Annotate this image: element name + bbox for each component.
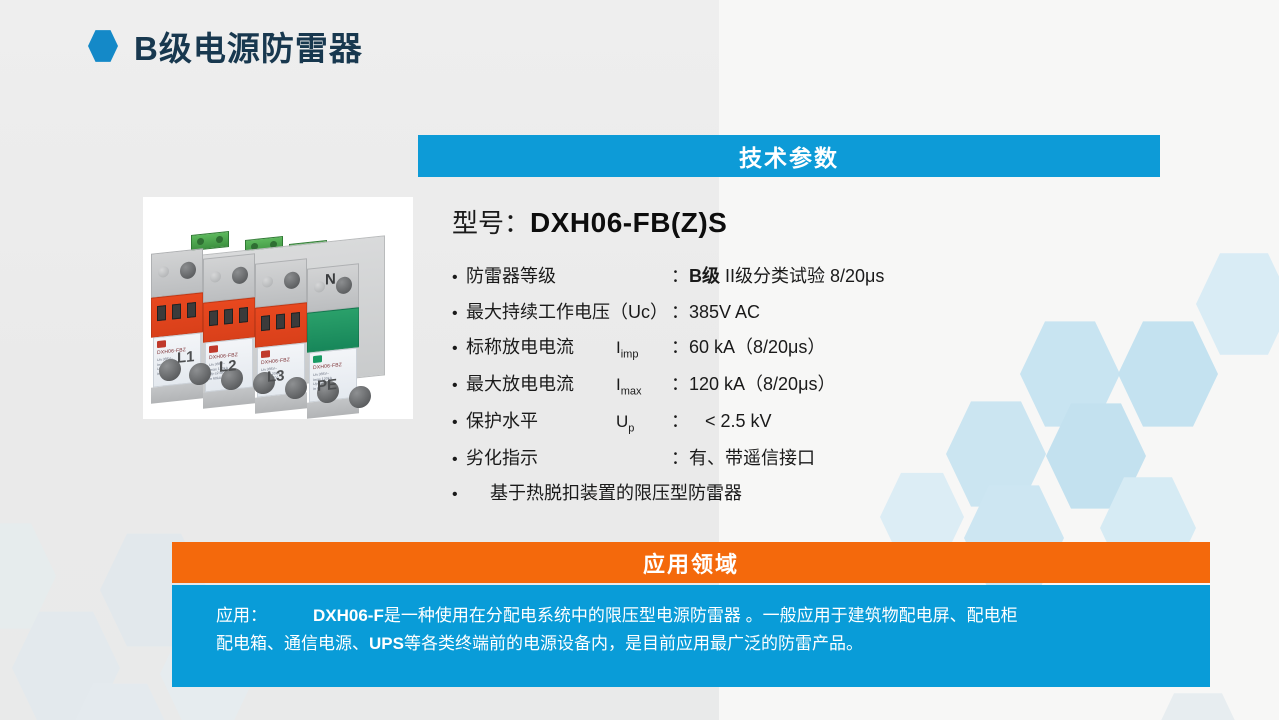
spec-name: 基于热脱扣装置的限压型防雷器 [466,479,742,505]
application-line-1-bold: DXH06-F [313,606,384,625]
hexagon-icon [88,30,118,63]
spec-symbol-sub: imp [621,348,639,360]
spd-device-illustration: DXH06-FBZ Un 385V~Imax 120kAUp ≤2.5kVIn … [149,211,407,411]
spec-name: 标称放电电流 [466,333,616,359]
status-window [187,302,196,318]
spec-colon: ： [671,407,689,433]
application-line-1: 应用：DXH06-F是一种使用在分配电系统中的限压型电源防雷器 。一般应用于建筑… [216,602,1196,630]
brand-logo-icon [261,350,270,358]
bullet-icon: • [452,270,466,286]
model-label: 型号： [452,203,530,240]
brand-logo-icon [157,340,166,348]
neutral-label-n: N [325,270,336,288]
spec-colon: ： [671,444,689,470]
spec-name: 保护水平 [466,407,616,433]
bullet-icon: • [452,487,466,503]
spec-value: 60 kA（8/20μs） [689,333,825,359]
spec-symbol-sub: max [621,385,642,397]
status-window [224,309,233,325]
tech-spec-list: • 防雷器等级 ： B级 II级分类试验 8/20μs • 最大持续工作电压（U… [452,262,1012,515]
bullet-icon: • [452,306,466,322]
status-window [291,312,300,328]
spec-value: 有、带遥信接口 [689,444,815,470]
slide-canvas: B级电源防雷器 技术参数 [0,0,1279,720]
application-line-1-rest: 是一种使用在分配电系统中的限压型电源防雷器 。一般应用于建筑物配电屏、配电柜 [384,606,1018,625]
bullet-icon: • [452,378,466,394]
bullet-icon: • [452,415,466,431]
spec-row-imax: • 最大放电电流 Imax ： 120 kA（8/20μs） [452,370,1012,397]
spec-row-up: • 保护水平 Up ： < 2.5 kV [452,407,1012,434]
bullet-icon: • [452,341,466,357]
spec-row-thermal: • 基于热脱扣装置的限压型防雷器 [452,479,1012,505]
page-title-row: B级电源防雷器 [88,22,363,70]
spec-row-in: • 标称放电电流 Iimp ： 60 kA（8/20μs） [452,333,1012,360]
spec-name: 防雷器等级 [466,262,671,288]
brand-logo-icon [209,345,218,353]
spec-symbol-base: U [616,412,628,431]
model-value: DXH06-FB(Z)S [530,207,727,239]
spec-row-indicator: • 劣化指示 ： 有、带遥信接口 [452,444,1012,470]
spec-row-uc: • 最大持续工作电压（Uc） ： 385V AC [452,298,1012,324]
spec-name: 最大放电电流 [466,370,616,396]
spec-value-bold: B级 [689,266,720,286]
spec-value: B级 II级分类试验 8/20μs [689,262,884,288]
product-photo: DXH06-FBZ Un 385V~Imax 120kAUp ≤2.5kVIn … [143,197,413,419]
status-window [239,307,248,323]
spec-symbol-sub: p [628,422,634,434]
tech-params-header-label: 技术参数 [739,139,839,173]
status-window [276,314,285,330]
application-header: 应用领域 [172,542,1210,583]
spec-symbol: Iimp [616,338,671,360]
phase-label-l2: L2 [219,357,237,376]
status-window [172,304,181,320]
spec-colon: ： [671,370,689,396]
application-line-2-a: 配电箱、通信电源、 [216,634,369,653]
spec-name: 最大持续工作电压（Uc） [466,298,671,324]
spec-symbol: Up [616,412,671,434]
spec-value: 120 kA（8/20μs） [689,370,835,396]
spec-value: < 2.5 kV [689,411,772,432]
status-window [209,310,218,326]
spec-colon: ： [671,333,689,359]
status-window [261,315,270,331]
status-window [157,305,166,321]
application-body: 应用：DXH06-F是一种使用在分配电系统中的限压型电源防雷器 。一般应用于建筑… [172,585,1210,687]
tech-params-header: 技术参数 [418,135,1160,177]
spec-symbol: Imax [616,375,671,397]
spec-value-rest: II级分类试验 8/20μs [720,266,884,286]
bottom-terminal-icon [349,385,371,409]
application-line-1-label: 应用： [216,606,267,625]
spec-value: 385V AC [689,302,760,323]
page-title: B级电源防雷器 [134,22,363,70]
spec-colon: ： [671,298,689,324]
spec-row-grade: • 防雷器等级 ： B级 II级分类试验 8/20μs [452,262,1012,288]
phase-label-l3: L3 [267,367,285,386]
module-color-band [307,307,359,352]
phase-label-pe: PE [317,376,337,395]
application-header-label: 应用领域 [643,547,739,579]
application-line-2-b: 等各类终端前的电源设备内，是目前应用最广泛的防雷产品。 [404,634,863,653]
application-line-2: 配电箱、通信电源、UPS等各类终端前的电源设备内，是目前应用最广泛的防雷产品。 [216,630,1196,658]
phase-label-l1: L1 [177,348,195,367]
brand-logo-icon [313,355,322,363]
spec-name: 劣化指示 [466,444,671,470]
model-line: 型号： DXH06-FB(Z)S [452,203,727,240]
spec-colon: ： [671,262,689,288]
bullet-icon: • [452,452,466,468]
application-line-2-bold: UPS [369,634,404,653]
